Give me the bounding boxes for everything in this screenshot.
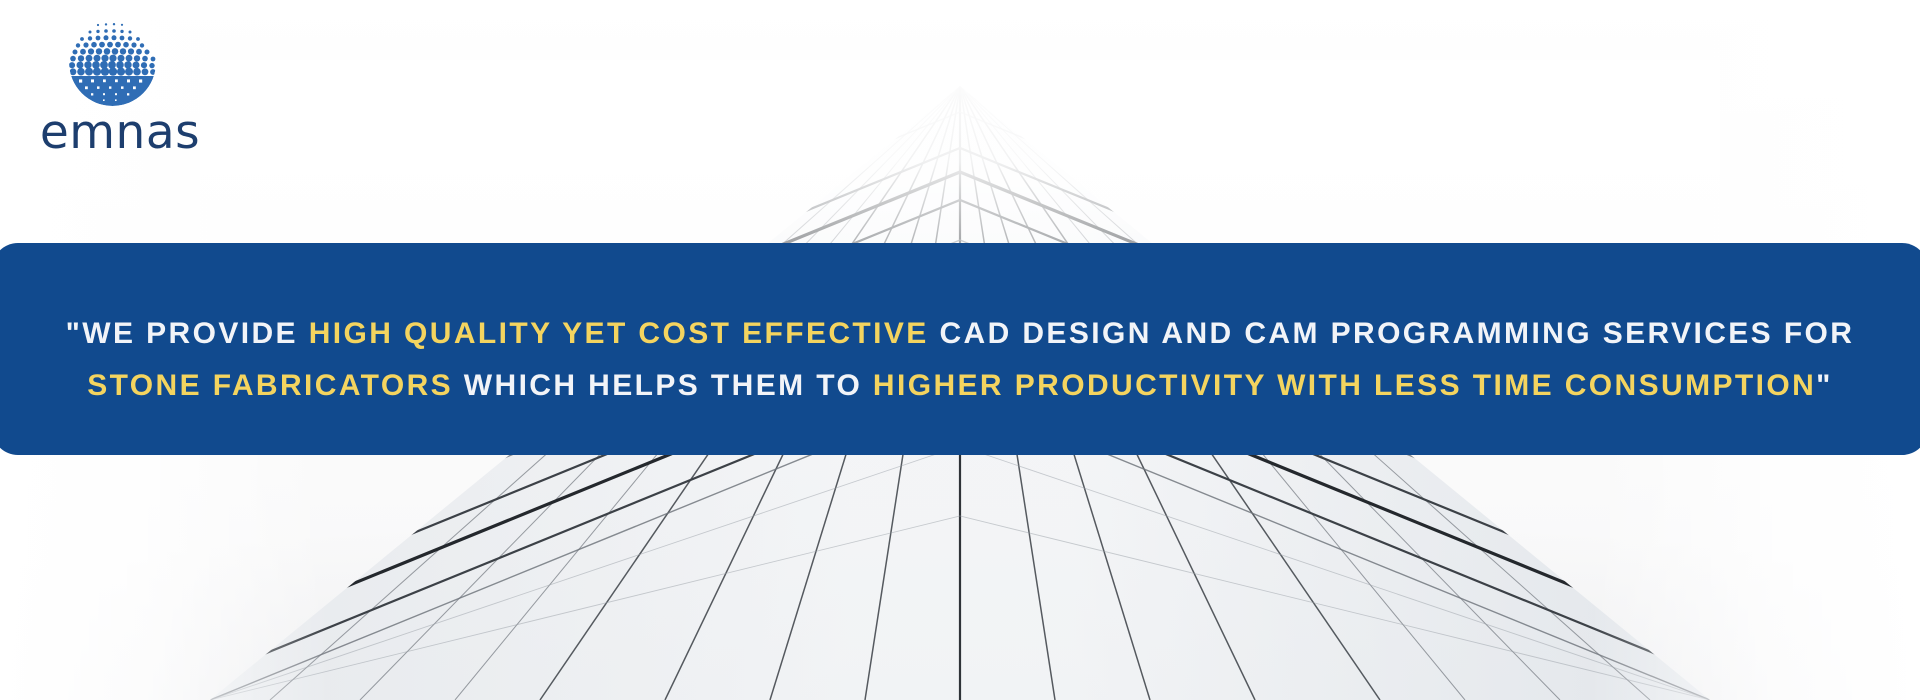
quote-segment-4: WHICH HELPS THEM TO: [464, 369, 873, 402]
open-quote-mark: ": [66, 317, 83, 350]
quote-segment-3: STONE FABRICATORS: [87, 369, 464, 402]
quote-segment-5: HIGHER PRODUCTIVITY WITH LESS TIME CONSU…: [873, 369, 1816, 402]
quote-segment-1: HIGH QUALITY YET COST EFFECTIVE: [309, 317, 940, 350]
halftone-circle-icon: [69, 19, 156, 106]
brand-wordmark: emnas: [30, 106, 210, 160]
quote-segment-2: CAD DESIGN AND CAM PROGRAMMING SERVICES …: [939, 317, 1854, 350]
brand-logo[interactable]: emnas: [30, 14, 250, 154]
quote-segment-0: WE PROVIDE: [82, 317, 308, 350]
close-quote-mark: ": [1816, 369, 1833, 402]
halftone-circle-svg: [69, 19, 156, 106]
quote-text: "WE PROVIDE HIGH QUALITY YET COST EFFECT…: [32, 308, 1888, 412]
quote-banner: "WE PROVIDE HIGH QUALITY YET COST EFFECT…: [0, 243, 1920, 455]
hero-section: emnas "WE PROVIDE HIGH QUALITY YET COST …: [0, 0, 1920, 700]
